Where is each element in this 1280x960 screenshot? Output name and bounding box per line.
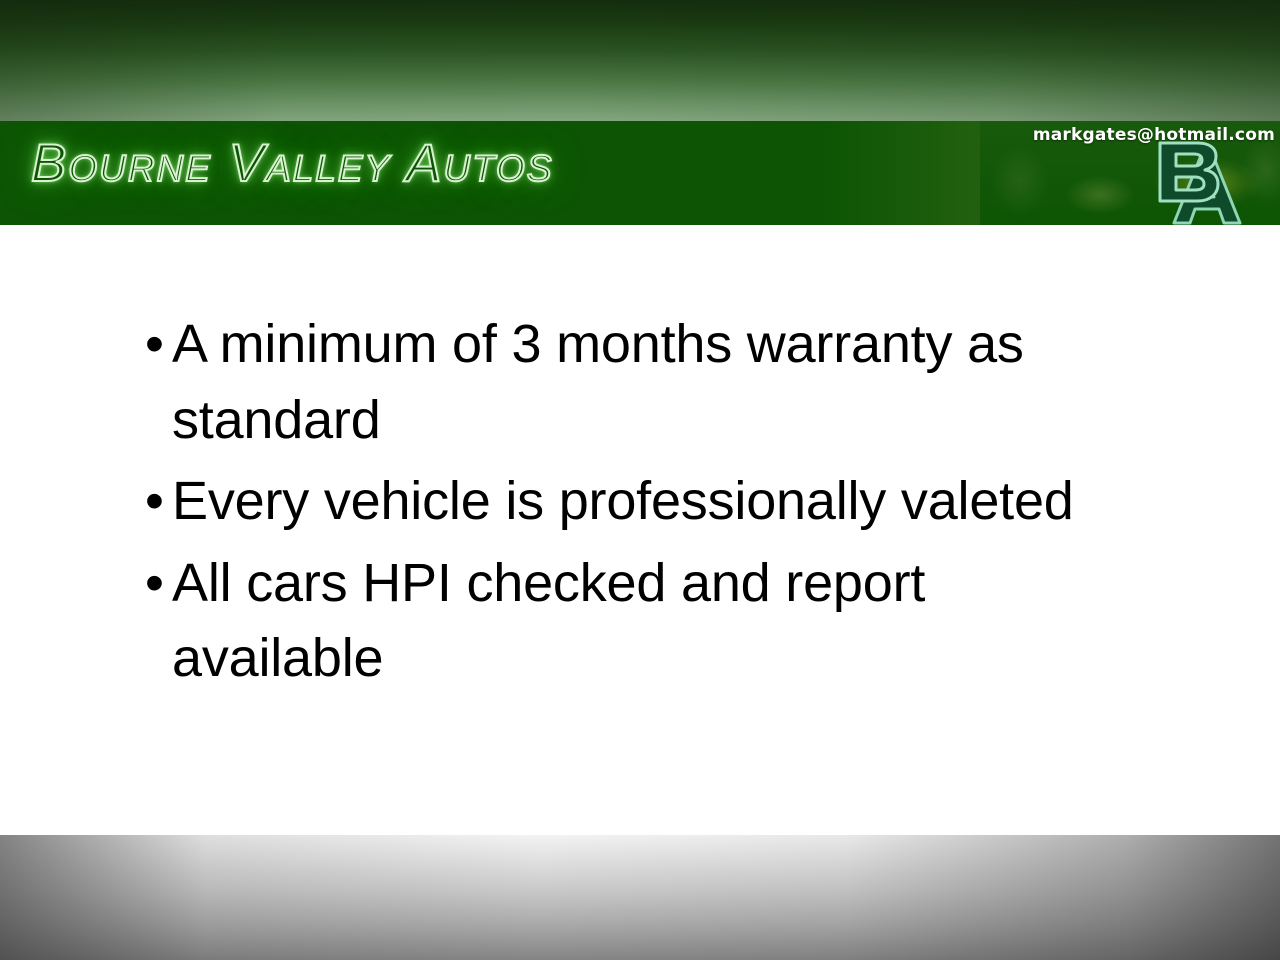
presentation-slide: Bourne Valley Autos markgates@hotmail.co… <box>0 0 1280 960</box>
logo-banner-fill: Bourne Valley Autos markgates@hotmail.co… <box>5 121 1280 225</box>
bva-monogram-logo <box>1146 139 1258 225</box>
company-logo-text: Bourne Valley Autos <box>31 137 553 190</box>
bullet-text: All cars HPI checked and report availabl… <box>172 553 925 689</box>
bullet-list: • A minimum of 3 months warranty as stan… <box>140 307 1150 703</box>
bullet-marker-icon: • <box>145 307 164 383</box>
top-gradient-band <box>0 0 1280 121</box>
logo-banner: Bourne Valley Autos markgates@hotmail.co… <box>0 121 1280 225</box>
bottom-gradient-band <box>0 835 1280 960</box>
slide-content-area: • A minimum of 3 months warranty as stan… <box>0 225 1280 835</box>
list-item: • All cars HPI checked and report availa… <box>140 546 1150 697</box>
banner-photo-fade <box>800 121 980 225</box>
bullet-marker-icon: • <box>145 546 164 622</box>
list-item: • Every vehicle is professionally valete… <box>140 464 1150 540</box>
bullet-marker-icon: • <box>145 464 164 540</box>
bva-monogram-icon <box>1146 139 1258 225</box>
list-item: • A minimum of 3 months warranty as stan… <box>140 307 1150 458</box>
bullet-text: Every vehicle is professionally valeted <box>172 471 1074 531</box>
bullet-text: A minimum of 3 months warranty as standa… <box>172 314 1024 450</box>
